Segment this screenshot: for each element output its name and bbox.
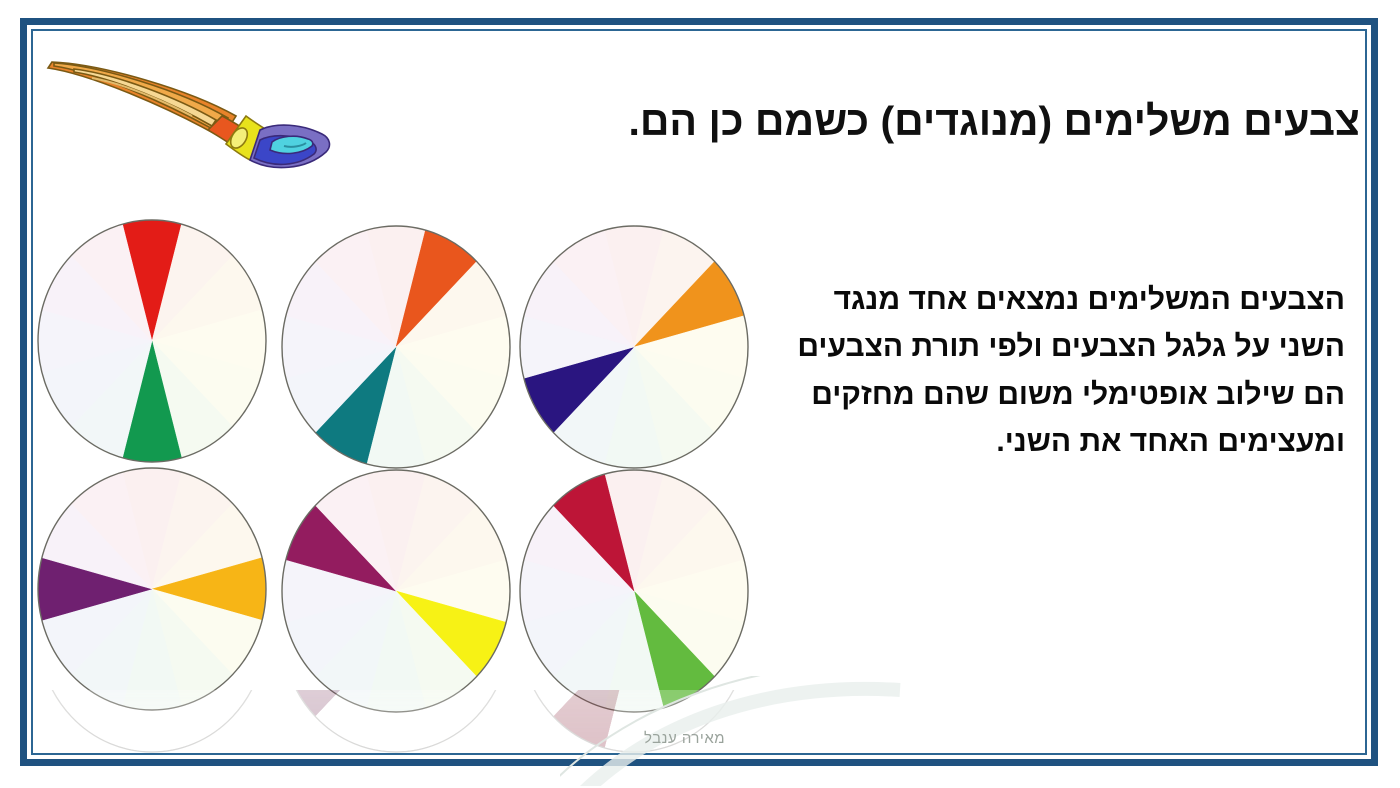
wheel-cell-4: [34, 464, 270, 714]
paintbrush-icon: [40, 46, 332, 172]
wheel-cell-2: [278, 222, 514, 472]
wheel-cell-5: [278, 466, 514, 716]
wheel-cell-3: [516, 222, 752, 472]
wheel-cell-6: [516, 466, 752, 716]
color-wheel-amber-purple: [34, 464, 270, 714]
color-wheel-yellow-magenta: [278, 466, 514, 716]
body-paragraph: הצבעים המשלימים נמצאים אחד מנגד השני על …: [785, 276, 1345, 466]
color-wheel-orange-teal: [278, 222, 514, 472]
wheel-cell-1: [34, 216, 270, 466]
color-wheel-grid: [34, 216, 774, 716]
author-watermark: מאירה ענבל: [644, 730, 725, 747]
page-title: צבעים משלימים (מנוגדים) כשמם כן הם.: [290, 98, 1360, 145]
color-wheel-green-crimson: [516, 466, 752, 716]
slide-canvas: צבעים משלימים (מנוגדים) כשמם כן הם. הצבע…: [0, 0, 1400, 788]
color-wheel-orange-navy: [516, 222, 752, 472]
color-wheel-red-green: [34, 216, 270, 466]
